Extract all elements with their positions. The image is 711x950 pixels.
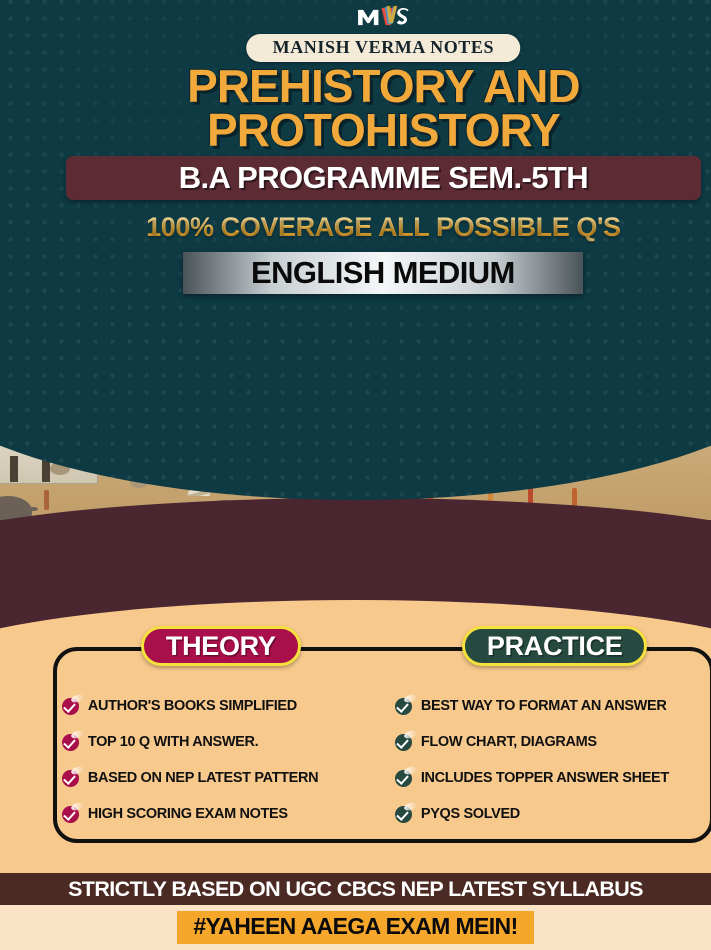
semester-label: B.A PROGRAMME SEM.-5TH xyxy=(179,160,588,196)
feature-columns: AUTHOR'S BOOKS SIMPLIFIED TOP 10 Q WITH … xyxy=(62,688,711,832)
mvs-flame-logo-icon xyxy=(355,4,411,28)
theory-item-label: HIGH SCORING EXAM NOTES xyxy=(88,806,288,822)
practice-pill: PRACTICE xyxy=(462,626,648,666)
check-circle-icon xyxy=(395,770,412,787)
check-circle-icon xyxy=(62,698,79,715)
check-circle-icon xyxy=(395,698,412,715)
header-section: FOUNDATION MANISH VERMA NOTES PREHISTORY… xyxy=(0,0,711,500)
syllabus-label: STRICTLY BASED ON UGC CBCS NEP LATEST SY… xyxy=(68,877,643,902)
list-item: AUTHOR'S BOOKS SIMPLIFIED xyxy=(62,688,379,724)
practice-item-label: BEST WAY TO FORMAT AN ANSWER xyxy=(421,698,667,714)
hashtag-bar: #YAHEEN AAEGA EXAM MEIN! xyxy=(0,905,711,950)
coverage-text: 100% COVERAGE ALL POSSIBLE Q'S xyxy=(28,212,711,243)
list-item: INCLUDES TOPPER ANSWER SHEET xyxy=(395,760,711,796)
list-item: TOP 10 Q WITH ANSWER. xyxy=(62,724,379,760)
check-circle-icon xyxy=(395,734,412,751)
brand-notes-label: MANISH VERMA NOTES xyxy=(273,37,495,57)
poster-root: IC PREHISISTRIC INDIA A PROTOHISTERIC PR… xyxy=(0,0,711,950)
list-item: BASED ON NEP LATEST PATTERN xyxy=(62,760,379,796)
theory-pill: THEORY xyxy=(141,626,301,666)
list-item: BEST WAY TO FORMAT AN ANSWER xyxy=(395,688,711,724)
practice-pill-label: PRACTICE xyxy=(487,631,623,662)
hashtag-highlight: #YAHEEN AAEGA EXAM MEIN! xyxy=(177,911,533,944)
practice-column: BEST WAY TO FORMAT AN ANSWER FLOW CHART,… xyxy=(395,688,711,832)
check-circle-icon xyxy=(62,806,79,823)
check-circle-icon xyxy=(395,806,412,823)
hashtag-label: #YAHEEN AAEGA EXAM MEIN! xyxy=(193,913,517,939)
title-line-1: PREHISTORY AND xyxy=(28,64,711,108)
title-line-2: PROTOHISTORY xyxy=(28,108,711,152)
practice-item-label: FLOW CHART, DIAGRAMS xyxy=(421,734,597,750)
semester-bar: B.A PROGRAMME SEM.-5TH xyxy=(66,156,701,200)
syllabus-bar: STRICTLY BASED ON UGC CBCS NEP LATEST SY… xyxy=(0,873,711,905)
practice-item-label: INCLUDES TOPPER ANSWER SHEET xyxy=(421,770,669,786)
list-item: PYQS SOLVED xyxy=(395,796,711,832)
list-item: HIGH SCORING EXAM NOTES xyxy=(62,796,379,832)
list-item: FLOW CHART, DIAGRAMS xyxy=(395,724,711,760)
poster-title: PREHISTORY AND PROTOHISTORY xyxy=(28,64,711,152)
theory-item-label: BASED ON NEP LATEST PATTERN xyxy=(88,770,318,786)
check-circle-icon xyxy=(62,734,79,751)
brand-notes-pill: MANISH VERMA NOTES xyxy=(247,34,521,62)
theory-pill-label: THEORY xyxy=(166,631,276,662)
check-circle-icon xyxy=(62,770,79,787)
practice-item-label: PYQS SOLVED xyxy=(421,806,520,822)
theory-item-label: AUTHOR'S BOOKS SIMPLIFIED xyxy=(88,698,297,714)
theory-column: AUTHOR'S BOOKS SIMPLIFIED TOP 10 Q WITH … xyxy=(62,688,379,832)
medium-bar: ENGLISH MEDIUM xyxy=(183,252,583,294)
theory-item-label: TOP 10 Q WITH ANSWER. xyxy=(88,734,258,750)
medium-label: ENGLISH MEDIUM xyxy=(251,255,515,291)
